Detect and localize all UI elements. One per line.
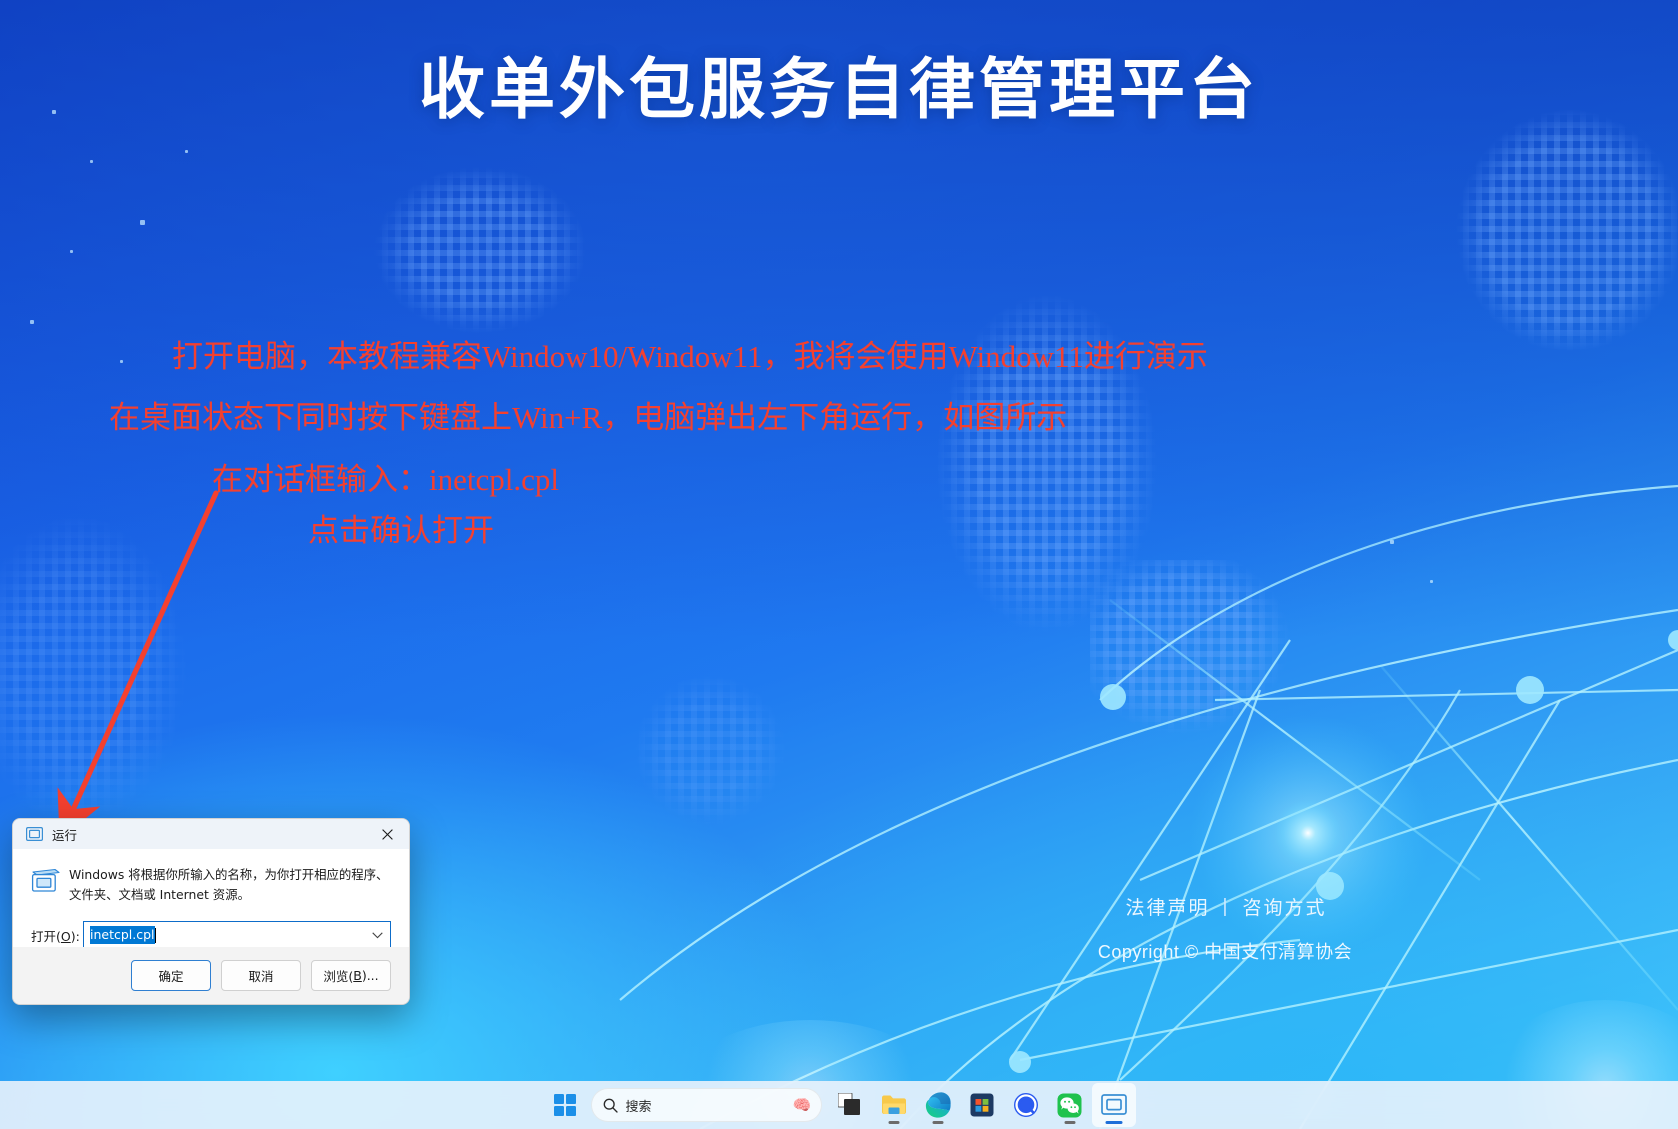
annotation-line-2: 在桌面状态下同时按下键盘上Win+R，电脑弹出左下角运行，如图所示: [109, 392, 1067, 437]
wechat-icon[interactable]: [1048, 1083, 1092, 1127]
edge-icon[interactable]: [916, 1083, 960, 1127]
footer-links: 法律声明|咨询方式: [1101, 893, 1351, 920]
open-input-value: inetcpl.cpl: [90, 926, 155, 944]
taskbar-indicator: [932, 1121, 943, 1124]
run-window-icon: [31, 865, 65, 905]
speck: [30, 320, 34, 324]
close-icon[interactable]: [365, 819, 409, 849]
taskbar-indicator: [1064, 1121, 1075, 1124]
speck: [185, 150, 188, 153]
run-dialog[interactable]: 运行 Windows 将根据你所输入的名称，为你打开相应的程序、文件夹、文档或 …: [12, 818, 410, 1005]
annotation-line-4: 点击确认打开: [308, 505, 494, 550]
store-icon[interactable]: [960, 1083, 1004, 1127]
speck: [90, 160, 93, 163]
run-description-row: Windows 将根据你所输入的名称，为你打开相应的程序、文件夹、文档或 Int…: [13, 849, 409, 905]
footer-separator: |: [1223, 896, 1230, 917]
annotation-line-1: 打开电脑，本教程兼容Window10/Window11，我将会使用Window1…: [172, 331, 1208, 376]
speck: [70, 250, 73, 253]
text-caret: [155, 928, 156, 943]
run-open-row: 打开(O): inetcpl.cpl: [13, 905, 409, 949]
search-icon: [603, 1098, 618, 1113]
copyright-text: Copyright © 中国支付清算协会: [1075, 938, 1375, 964]
legal-statement-link[interactable]: 法律声明: [1126, 898, 1210, 919]
copilot-brain-icon[interactable]: 🧠: [793, 1096, 812, 1114]
task-view-icon[interactable]: [828, 1083, 872, 1127]
quark-icon[interactable]: [1004, 1083, 1048, 1127]
run-dialog-title: 运行: [52, 825, 77, 844]
taskbar-indicator: [1105, 1121, 1122, 1124]
page-title: 收单外包服务自律管理平台: [0, 36, 1678, 132]
open-field-label: 打开(O):: [31, 926, 83, 945]
speck: [1390, 540, 1394, 544]
run-dialog-footer: 确定 取消 浏览(B)...: [13, 947, 409, 1004]
speck: [120, 360, 123, 363]
chevron-down-icon[interactable]: [372, 922, 383, 948]
speck: [140, 220, 145, 225]
browse-button[interactable]: 浏览(B)...: [311, 960, 391, 991]
run-dialog-description: Windows 将根据你所输入的名称，为你打开相应的程序、文件夹、文档或 Int…: [65, 865, 391, 905]
speck: [1430, 580, 1433, 583]
run-window-icon[interactable]: [1092, 1083, 1136, 1127]
windows-start-icon[interactable]: [543, 1083, 587, 1127]
run-window-icon: [26, 827, 43, 841]
run-dialog-titlebar[interactable]: 运行: [13, 819, 409, 849]
search-placeholder: 搜索: [626, 1096, 652, 1115]
red-arrow-icon: [40, 460, 250, 840]
taskbar-indicator: [888, 1121, 899, 1124]
contact-link[interactable]: 咨询方式: [1242, 898, 1326, 919]
cancel-button[interactable]: 取消: [221, 960, 301, 991]
annotation-line-3: 在对话框输入：inetcpl.cpl: [212, 454, 559, 499]
ok-button[interactable]: 确定: [131, 960, 211, 991]
open-input[interactable]: inetcpl.cpl: [83, 921, 391, 949]
folder-icon[interactable]: [872, 1083, 916, 1127]
search-input[interactable]: 搜索 🧠: [591, 1088, 822, 1122]
taskbar: 搜索 🧠: [0, 1081, 1678, 1129]
